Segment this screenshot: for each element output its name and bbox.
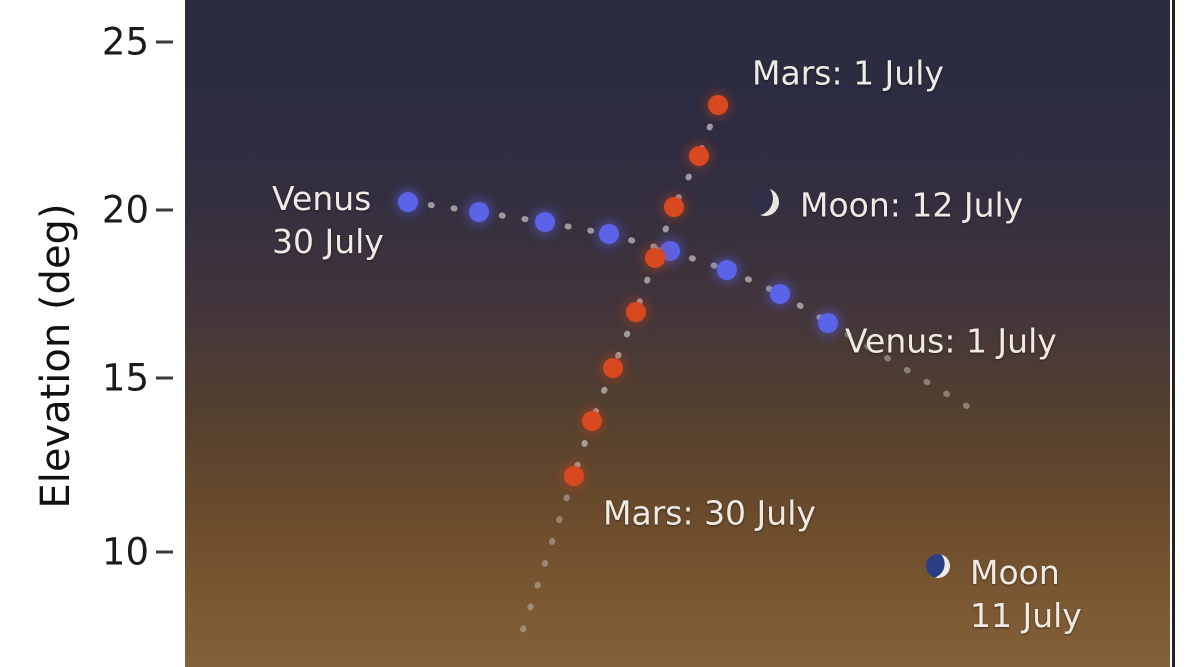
y-tick-mark-20 <box>156 209 173 212</box>
y-tick-label-25: 25 <box>102 21 149 64</box>
y-tick-label-15: 15 <box>102 357 149 400</box>
y-tick-mark-15 <box>156 377 173 380</box>
venus-data-point <box>717 260 737 280</box>
mars-data-point <box>582 411 602 431</box>
mars-data-point <box>603 358 623 378</box>
annotation-venus-1-july: Venus: 1 July <box>845 321 1057 364</box>
mars-data-point <box>689 146 709 166</box>
mars-data-point <box>564 466 584 486</box>
y-tick-label-10: 10 <box>102 531 149 574</box>
venus-data-point <box>599 224 619 244</box>
venus-data-point <box>535 212 555 232</box>
annotation-moon-11-july: Moon 11 July <box>970 552 1082 638</box>
annotation-mars-1-july: Mars: 1 July <box>752 53 944 96</box>
y-axis: Elevation (deg) 25 20 15 10 <box>0 0 185 667</box>
venus-data-point <box>469 202 489 222</box>
mars-data-point <box>626 302 646 322</box>
y-tick-label-20: 20 <box>102 189 149 232</box>
annotation-moon-12-july: Moon: 12 July <box>800 185 1023 228</box>
moon-marker <box>923 551 953 581</box>
plot-area: Mars: 1 JulyMoon: 12 JulyVenus: 1 JulyMa… <box>185 0 1170 667</box>
mars-data-point <box>708 95 728 115</box>
y-tick-mark-10 <box>156 551 173 554</box>
annotation-venus-30-july: Venus 30 July <box>272 178 384 264</box>
mars-data-point <box>645 248 665 268</box>
mars-data-point <box>664 197 684 217</box>
chart-root: Elevation (deg) 25 20 15 10 Mars: 1 July… <box>0 0 1200 667</box>
figure-right-border <box>1172 0 1175 667</box>
y-tick-mark-25 <box>156 41 173 44</box>
venus-data-point <box>818 313 838 333</box>
annotation-mars-30-july: Mars: 30 July <box>603 493 816 536</box>
y-axis-title: Elevation (deg) <box>33 56 79 656</box>
venus-data-point <box>398 192 418 212</box>
moon-marker <box>748 185 782 219</box>
venus-data-point <box>770 284 790 304</box>
